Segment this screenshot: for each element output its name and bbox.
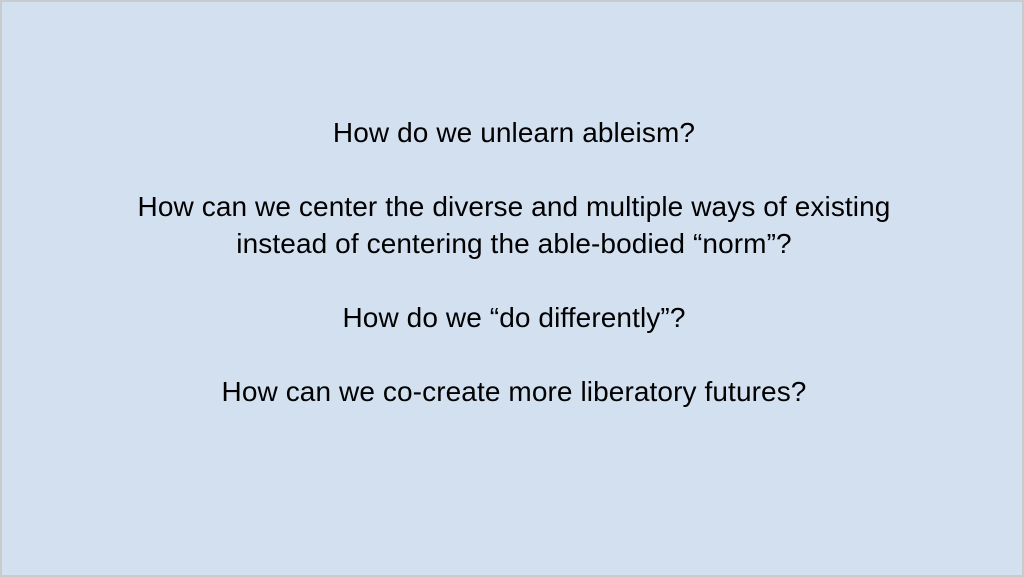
question-line-4: How can we co-create more liberatory fut…	[102, 373, 926, 410]
slide-content-body: How do we unlearn ableism? How can we ce…	[2, 2, 1024, 410]
paragraph-spacer-3	[2, 336, 1024, 373]
question-line-2: How can we center the diverse and multip…	[102, 188, 926, 262]
question-line-3: How do we “do differently”?	[102, 299, 926, 336]
question-line-1: How do we unlearn ableism?	[102, 114, 926, 151]
paragraph-spacer-1	[2, 151, 1024, 188]
slide: How do we unlearn ableism? How can we ce…	[0, 0, 1024, 577]
paragraph-spacer-2	[2, 262, 1024, 299]
